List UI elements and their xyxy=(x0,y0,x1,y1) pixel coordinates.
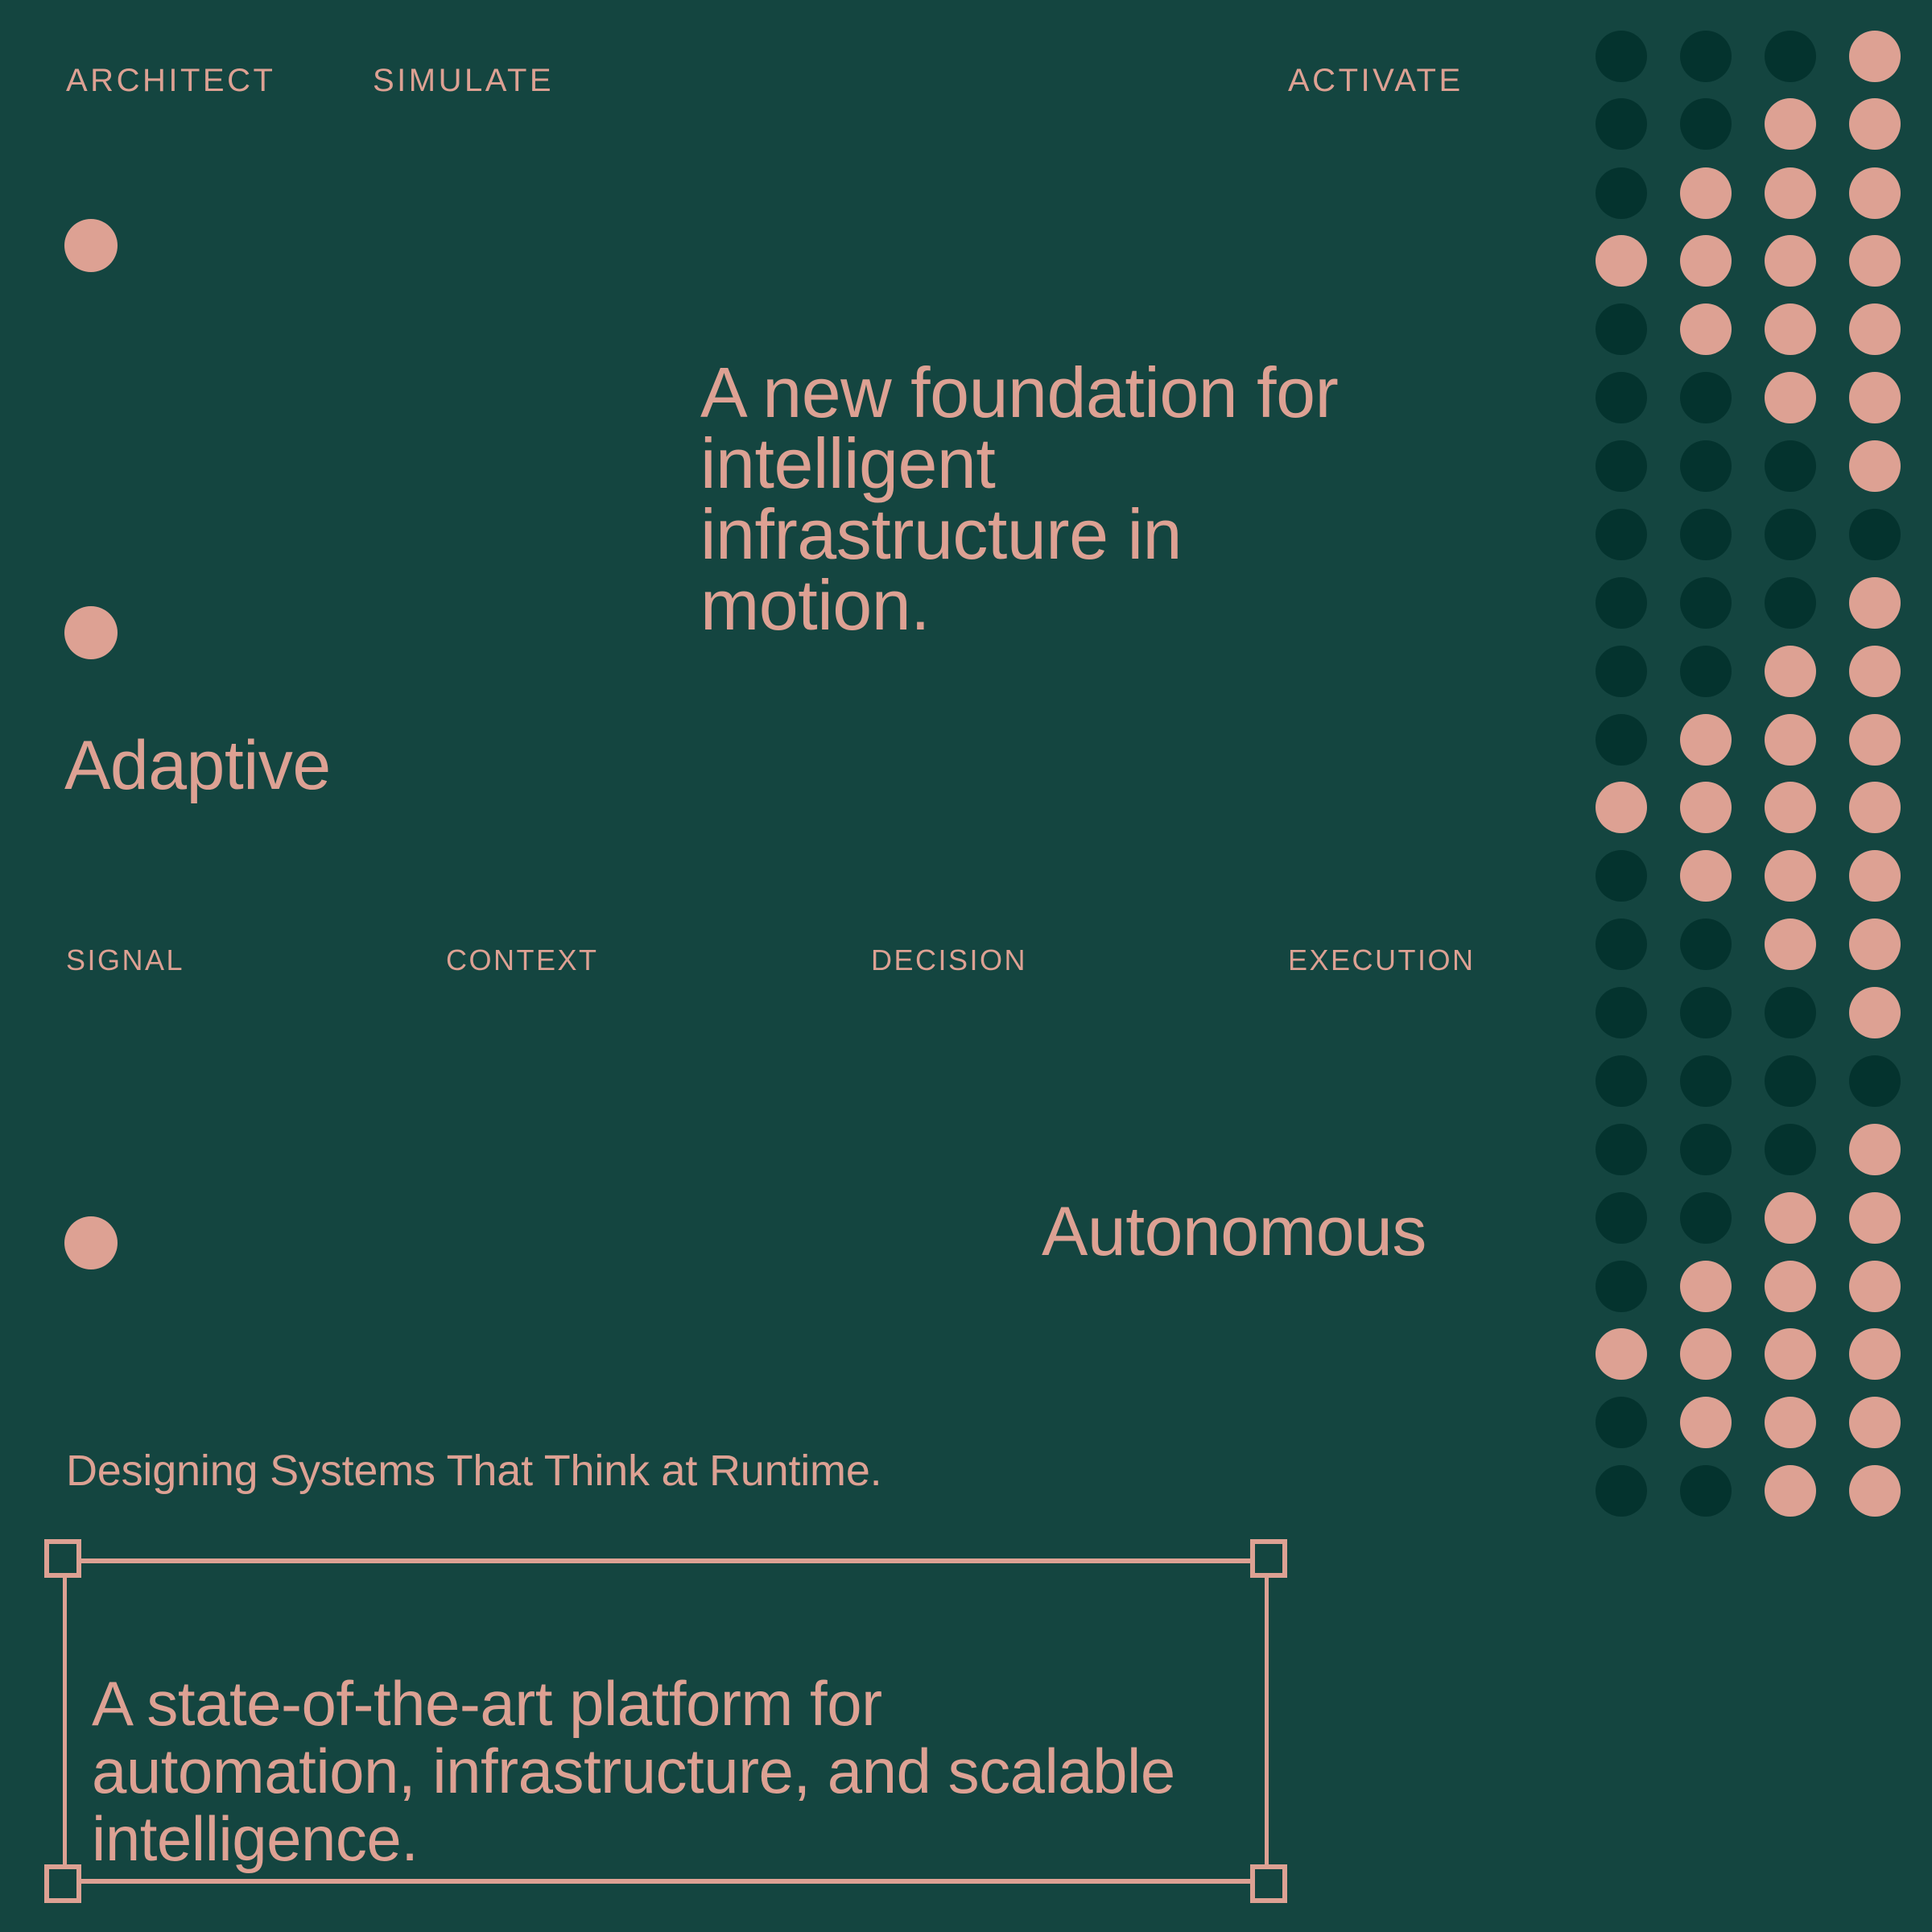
dot-matrix-dot xyxy=(1596,1328,1647,1380)
dot-matrix-dot xyxy=(1765,1124,1816,1175)
dot-matrix-dot xyxy=(1849,714,1901,766)
dot-matrix-dot xyxy=(1596,782,1647,833)
dot-matrix-dot xyxy=(1849,167,1901,219)
frame-edge-left xyxy=(63,1558,67,1884)
dot-matrix-dot xyxy=(1765,1328,1816,1380)
dot-matrix-dot xyxy=(1596,1192,1647,1244)
dot-matrix-dot xyxy=(1596,1055,1647,1107)
dot-matrix-dot xyxy=(1596,1261,1647,1312)
dot-matrix-dot xyxy=(1849,577,1901,629)
dot-matrix-dot xyxy=(1765,235,1816,287)
dot-matrix-dot xyxy=(1596,31,1647,82)
dot-matrix-dot xyxy=(1680,646,1732,697)
dot-matrix-dot xyxy=(1765,1055,1816,1107)
dot-matrix-dot xyxy=(1849,782,1901,833)
dot-matrix-dot xyxy=(1680,1465,1732,1517)
dot-matrix-dot xyxy=(1765,714,1816,766)
dot-matrix-dot xyxy=(1765,1261,1816,1312)
dot-matrix-dot xyxy=(1596,919,1647,970)
dot-matrix-dot xyxy=(1680,167,1732,219)
dot-matrix-dot xyxy=(1849,987,1901,1038)
dot-matrix-dot xyxy=(1849,919,1901,970)
dot-matrix-dot xyxy=(1765,577,1816,629)
dot-matrix-dot xyxy=(1849,303,1901,355)
dot-matrix-dot xyxy=(1680,1124,1732,1175)
dot-matrix-dot xyxy=(1765,1465,1816,1517)
poster-canvas: ARCHITECT SIMULATE ACTIVATE A new founda… xyxy=(0,0,1932,1932)
top-nav: ARCHITECT SIMULATE ACTIVATE xyxy=(66,64,1515,113)
dot-matrix-dot xyxy=(1596,646,1647,697)
dot-matrix-dot xyxy=(1596,440,1647,492)
headline: A new foundation for intelligent infrast… xyxy=(700,357,1368,641)
dot-matrix-dot xyxy=(1596,1124,1647,1175)
nav-item-activate[interactable]: ACTIVATE xyxy=(1288,64,1463,97)
dot-matrix-dot xyxy=(1765,372,1816,423)
dot-matrix-dot xyxy=(1849,850,1901,902)
dot-matrix-dot xyxy=(1765,98,1816,150)
dot-matrix-dot xyxy=(1680,714,1732,766)
dot-matrix-dot xyxy=(1596,850,1647,902)
dot-matrix-dot xyxy=(1680,1055,1732,1107)
corner-handle-bottom-right-icon[interactable] xyxy=(1250,1864,1287,1903)
pipeline-step-decision[interactable]: DECISION xyxy=(871,946,1027,975)
dot-matrix-dot xyxy=(1765,646,1816,697)
dot-matrix-dot xyxy=(1680,1397,1732,1448)
dot-matrix-dot xyxy=(1849,1465,1901,1517)
dot-matrix-dot xyxy=(1680,1192,1732,1244)
frame-edge-bottom xyxy=(63,1879,1269,1884)
dot-matrix-dot xyxy=(1596,577,1647,629)
dot-matrix-dot xyxy=(1680,1261,1732,1312)
dot-matrix-dot xyxy=(1680,303,1732,355)
tagline: Designing Systems That Think at Runtime. xyxy=(66,1449,881,1492)
dot-matrix-dot xyxy=(1680,440,1732,492)
dot-matrix-dot xyxy=(1765,303,1816,355)
dot-matrix-dot xyxy=(1680,577,1732,629)
word-mark-adaptive: Adaptive xyxy=(64,731,331,800)
dot-matrix-dot xyxy=(1596,372,1647,423)
dot-matrix-dot xyxy=(1596,714,1647,766)
dot-matrix-dot xyxy=(1596,987,1647,1038)
bullet-marker-2-icon xyxy=(64,606,118,659)
dot-matrix-dot xyxy=(1765,1192,1816,1244)
nav-item-simulate[interactable]: SIMULATE xyxy=(373,64,554,97)
dot-matrix-dot xyxy=(1765,987,1816,1038)
dot-matrix-dot xyxy=(1596,167,1647,219)
dot-matrix-dot xyxy=(1680,98,1732,150)
bullet-marker-3-icon xyxy=(64,1216,118,1269)
pipeline-step-execution[interactable]: EXECUTION xyxy=(1288,946,1476,975)
dot-matrix-dot xyxy=(1680,509,1732,560)
dot-matrix-dot xyxy=(1680,372,1732,423)
dot-matrix-dot xyxy=(1849,1192,1901,1244)
dot-matrix-dot xyxy=(1849,235,1901,287)
dot-matrix-dot xyxy=(1680,987,1732,1038)
dot-matrix-dot xyxy=(1849,1055,1901,1107)
dot-matrix-dot xyxy=(1849,646,1901,697)
dot-matrix-dot xyxy=(1596,235,1647,287)
dot-matrix-dot xyxy=(1680,782,1732,833)
bullet-marker-1-icon xyxy=(64,219,118,272)
dot-matrix-dot xyxy=(1680,850,1732,902)
dot-matrix-dot xyxy=(1680,31,1732,82)
dot-matrix-dot xyxy=(1765,782,1816,833)
nav-item-architect[interactable]: ARCHITECT xyxy=(66,64,275,97)
dot-matrix-dot xyxy=(1680,1328,1732,1380)
dot-matrix-dot xyxy=(1596,98,1647,150)
dot-matrix-dot xyxy=(1849,1261,1901,1312)
pipeline-step-signal[interactable]: SIGNAL xyxy=(66,946,184,975)
dot-matrix-dot xyxy=(1849,98,1901,150)
pipeline-step-context[interactable]: CONTEXT xyxy=(446,946,599,975)
dot-matrix-dot xyxy=(1596,509,1647,560)
dot-matrix-dot xyxy=(1849,372,1901,423)
frame-edge-right xyxy=(1265,1558,1269,1884)
corner-handle-top-left-icon[interactable] xyxy=(44,1539,81,1578)
dot-matrix-dot xyxy=(1849,440,1901,492)
dot-matrix-dot xyxy=(1596,1397,1647,1448)
dot-matrix-pattern xyxy=(1594,0,1932,1932)
dot-matrix-dot xyxy=(1765,167,1816,219)
dot-matrix-dot xyxy=(1849,1397,1901,1448)
frame-edge-top xyxy=(63,1558,1269,1563)
dot-matrix-dot xyxy=(1765,31,1816,82)
dot-matrix-dot xyxy=(1765,509,1816,560)
dot-matrix-dot xyxy=(1849,1124,1901,1175)
dot-matrix-dot xyxy=(1596,1465,1647,1517)
dot-matrix-dot xyxy=(1849,31,1901,82)
dot-matrix-dot xyxy=(1765,1397,1816,1448)
dot-matrix-dot xyxy=(1765,440,1816,492)
dot-matrix-dot xyxy=(1849,1328,1901,1380)
statement-frame: A state-of-the-art platform for automati… xyxy=(63,1558,1269,1884)
dot-matrix-dot xyxy=(1849,509,1901,560)
dot-matrix-dot xyxy=(1765,919,1816,970)
statement-text: A state-of-the-art platform for automati… xyxy=(92,1670,1219,1873)
corner-handle-bottom-left-icon[interactable] xyxy=(44,1864,81,1903)
dot-matrix-dot xyxy=(1680,235,1732,287)
dot-matrix-dot xyxy=(1680,919,1732,970)
dot-matrix-dot xyxy=(1596,303,1647,355)
word-mark-autonomous: Autonomous xyxy=(1042,1197,1426,1266)
dot-matrix-dot xyxy=(1765,850,1816,902)
pipeline-steps: SIGNAL CONTEXT DECISION EXECUTION xyxy=(66,946,1515,985)
corner-handle-top-right-icon[interactable] xyxy=(1250,1539,1287,1578)
